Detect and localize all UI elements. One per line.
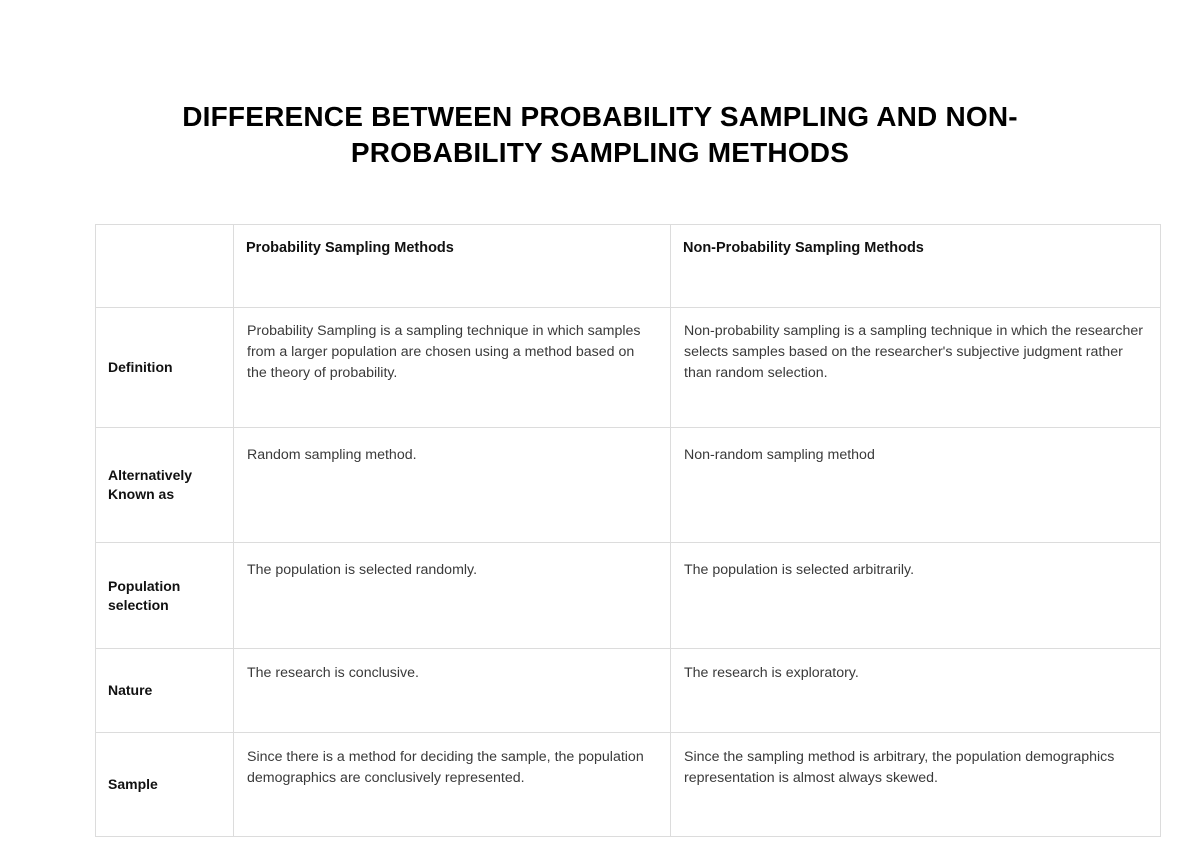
document-page: DIFFERENCE BETWEEN PROBABILITY SAMPLING …	[0, 0, 1200, 849]
header-cell-probability: Probability Sampling Methods	[234, 225, 671, 308]
table-row: Alternatively Known as Random sampling m…	[96, 428, 1161, 543]
cell-population-selection-non-probability: The population is selected arbitrarily.	[671, 543, 1161, 649]
table-row: Sample Since there is a method for decid…	[96, 733, 1161, 837]
cell-nature-probability: The research is conclusive.	[234, 649, 671, 733]
row-label-population-selection: Population selection	[96, 543, 234, 649]
row-label-sample: Sample	[96, 733, 234, 837]
cell-alternatively-known-as-non-probability: Non-random sampling method	[671, 428, 1161, 543]
page-title: DIFFERENCE BETWEEN PROBABILITY SAMPLING …	[170, 99, 1030, 171]
row-label-alternatively-known-as: Alternatively Known as	[96, 428, 234, 543]
header-cell-attribute	[96, 225, 234, 308]
cell-population-selection-probability: The population is selected randomly.	[234, 543, 671, 649]
cell-definition-probability: Probability Sampling is a sampling techn…	[234, 308, 671, 428]
page-title-line-2: PROBABILITY SAMPLING METHODS	[351, 137, 849, 168]
cell-alternatively-known-as-probability: Random sampling method.	[234, 428, 671, 543]
table-row: Population selection The population is s…	[96, 543, 1161, 649]
table-row: Definition Probability Sampling is a sam…	[96, 308, 1161, 428]
page-title-line-1: DIFFERENCE BETWEEN PROBABILITY SAMPLING …	[182, 101, 1018, 132]
cell-definition-non-probability: Non-probability sampling is a sampling t…	[671, 308, 1161, 428]
comparison-table: Probability Sampling Methods Non-Probabi…	[95, 224, 1161, 837]
row-label-nature: Nature	[96, 649, 234, 733]
cell-sample-non-probability: Since the sampling method is arbitrary, …	[671, 733, 1161, 837]
cell-sample-probability: Since there is a method for deciding the…	[234, 733, 671, 837]
table-header-row: Probability Sampling Methods Non-Probabi…	[96, 225, 1161, 308]
cell-nature-non-probability: The research is exploratory.	[671, 649, 1161, 733]
table-row: Nature The research is conclusive. The r…	[96, 649, 1161, 733]
row-label-definition: Definition	[96, 308, 234, 428]
header-cell-non-probability: Non-Probability Sampling Methods	[671, 225, 1161, 308]
